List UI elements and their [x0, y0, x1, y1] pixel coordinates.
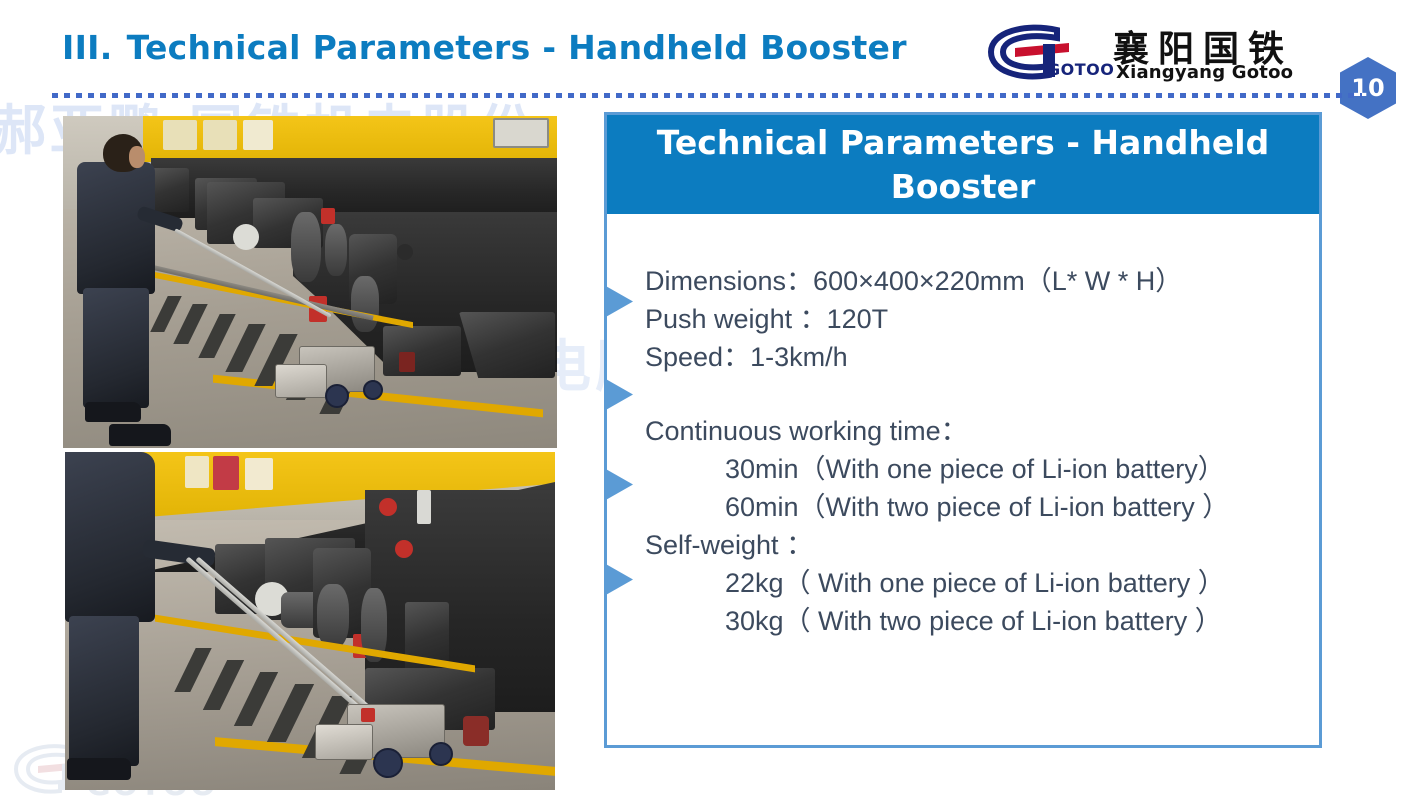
- specs-panel: Technical Parameters - Handheld Booster …: [604, 112, 1322, 748]
- spec-spacer: [645, 376, 1305, 412]
- photo-scene: [65, 452, 555, 790]
- page-title: III.Technical Parameters - Handheld Boos…: [62, 28, 907, 67]
- specs-panel-title: Technical Parameters - Handheld Booster: [627, 121, 1299, 209]
- brand-gotoo-text: GOTOO: [1047, 60, 1114, 79]
- hexagon-shape: 10: [1340, 57, 1396, 119]
- spec-line: Self-weight ：: [645, 526, 1305, 564]
- header-divider: [52, 93, 1362, 98]
- spec-line: Speed：1-3km/h: [645, 338, 1305, 376]
- spec-line: 30min（With one piece of Li-ion battery）: [645, 450, 1305, 488]
- slide-header: III.Technical Parameters - Handheld Boos…: [0, 0, 1423, 100]
- photo-worker-pushing-railcar-close-view: [65, 452, 555, 790]
- spec-line: 22kg（ With one piece of Li-ion battery ）: [645, 564, 1305, 602]
- specs-panel-header: Technical Parameters - Handheld Booster: [607, 115, 1319, 214]
- spec-line: Continuous working time：: [645, 412, 1305, 450]
- title-text: Technical Parameters - Handheld Booster: [127, 28, 907, 67]
- slide-canvas: 郝亚鹏 国铁机电股份 铁机电股份 郝亚鹏 国铁机电股份 GOTOO III.Te…: [0, 0, 1423, 802]
- photo-worker-pushing-railcar-side-view: [63, 116, 557, 448]
- brand-english-name: Xiangyang Gotoo: [1116, 62, 1293, 83]
- brand-logo: GOTOO 襄阳国铁 Xiangyang Gotoo: [985, 22, 1285, 82]
- specs-panel-body: Dimensions：600×400×220mm（L* W * H） Push …: [607, 214, 1319, 745]
- spec-line: Dimensions：600×400×220mm（L* W * H）: [645, 262, 1305, 300]
- photo-scene: [63, 116, 557, 448]
- page-number-badge: 10: [1340, 57, 1396, 119]
- spec-line: Push weight ：120T: [645, 300, 1305, 338]
- spec-line: 60min（With two piece of Li-ion battery ）: [645, 488, 1305, 526]
- spec-line: 30kg（ With two piece of Li-ion battery ）: [645, 602, 1305, 640]
- title-numeral: III.: [62, 28, 113, 67]
